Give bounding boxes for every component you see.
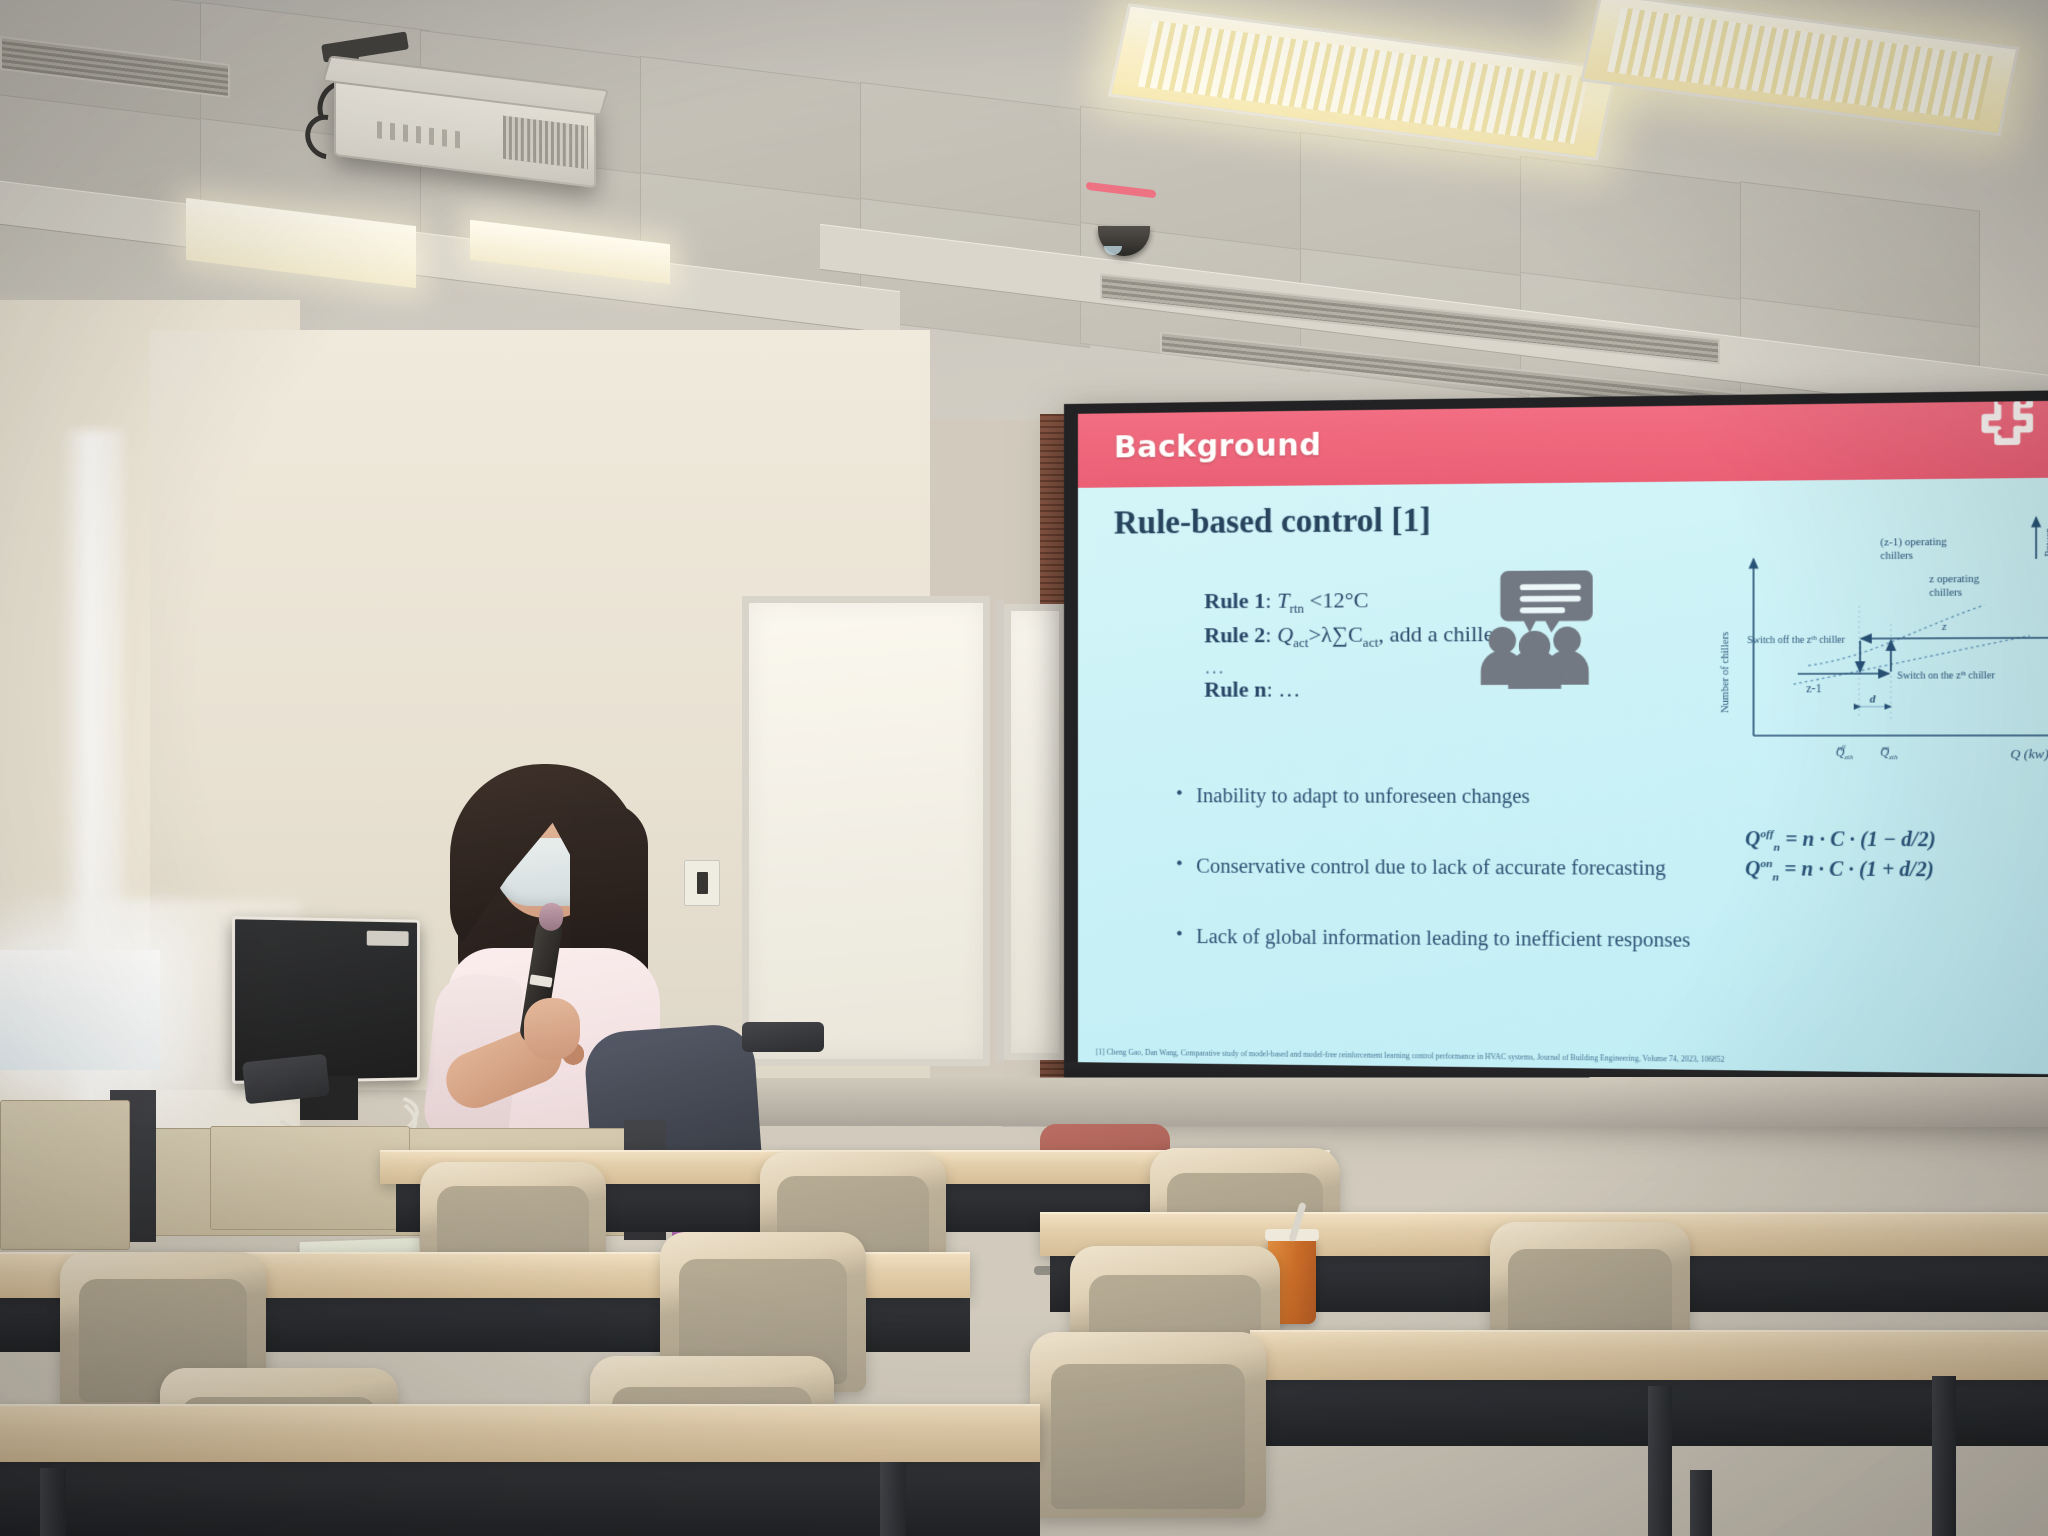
projection-screen: Background Rule-based control [1] Rule 1… bbox=[1064, 390, 2048, 1110]
bullet-item: Inability to adapt to unforeseen changes bbox=[1176, 785, 1709, 809]
lecture-hall-photo: Background Rule-based control [1] Rule 1… bbox=[0, 0, 2048, 1536]
rule-1-label: Rule 1 bbox=[1204, 588, 1265, 614]
eq-on-rhs: = n · C · (1 + d/2) bbox=[1784, 858, 1934, 881]
rule-1-tail: <12°C bbox=[1304, 587, 1368, 613]
slide-header-title: Background bbox=[1114, 428, 1322, 466]
rule-1-var: T bbox=[1277, 588, 1289, 613]
chart-annotation-z-minus-1: (z-1) operating bbox=[1880, 537, 1947, 549]
rule-2-label: Rule 2 bbox=[1204, 622, 1265, 647]
equations-block: Qoffn = n · C · (1 − d/2) Qonn = n · C ·… bbox=[1745, 826, 1936, 886]
chart-d-label: d bbox=[1870, 693, 1876, 705]
rule-1-subscript: rtn bbox=[1289, 601, 1304, 616]
slide-title: Rule-based control [1] bbox=[1114, 502, 1431, 542]
chair[interactable] bbox=[1030, 1332, 1266, 1518]
chart-y2label: Power bbox=[2044, 528, 2048, 556]
rules-ellipsis: … bbox=[1204, 652, 1501, 673]
side-cabinet bbox=[0, 1100, 130, 1250]
eq-off-lhs: Q bbox=[1745, 828, 1760, 851]
rule-2-mid: >λ∑C bbox=[1309, 621, 1363, 647]
eq-off-sup: off bbox=[1760, 828, 1773, 840]
chart-level-z-minus-1: z-1 bbox=[1806, 683, 1822, 695]
rule-1-line: Rule 1: Trtn <12°C bbox=[1204, 583, 1501, 619]
rule-2-line: Rule 2: Qact>λ∑Cact, add a chiller bbox=[1204, 618, 1501, 654]
lectern-equipment bbox=[242, 1054, 330, 1105]
chart-level-z: z bbox=[1941, 621, 1947, 633]
eq-on-sub: n bbox=[1773, 871, 1779, 883]
dark-object-on-shelf bbox=[742, 1022, 824, 1052]
svg-text:chillers: chillers bbox=[1880, 550, 1913, 562]
desk-leg bbox=[1690, 1470, 1712, 1536]
chart-tick-q-off: Qzthoff bbox=[1836, 744, 1854, 762]
chart-switch-off-label: Switch off the zth chiller bbox=[1747, 634, 1846, 646]
equation-on: Qonn = n · C · (1 + d/2) bbox=[1745, 856, 1936, 887]
desk-leg bbox=[1932, 1376, 1956, 1536]
chart-xlabel: Q (kw) bbox=[2010, 746, 2048, 762]
eq-on-sup: on bbox=[1760, 858, 1772, 870]
rule-n-label: Rule n bbox=[1204, 676, 1266, 701]
screen-shelf bbox=[700, 1077, 2048, 1127]
rule-2-subscript-2: act bbox=[1363, 635, 1378, 650]
chart-ylabel: Number of chillers bbox=[1720, 632, 1732, 713]
desk-leg bbox=[1648, 1386, 1672, 1536]
eq-off-sub: n bbox=[1774, 841, 1780, 853]
chart-switch-on-label: Switch on the zth chiller bbox=[1897, 670, 1995, 682]
svg-text:chillers: chillers bbox=[1929, 587, 1962, 599]
monitor-badge bbox=[367, 931, 409, 946]
rule-n-tail: : … bbox=[1267, 676, 1301, 701]
chart-annotation-z: z operating bbox=[1929, 574, 1980, 586]
presentation-slide: Background Rule-based control [1] Rule 1… bbox=[1078, 401, 2048, 1075]
rule-2-subscript: act bbox=[1293, 635, 1308, 650]
slide-header-bar: Background bbox=[1078, 401, 2048, 488]
desk-leg bbox=[40, 1468, 66, 1536]
rules-block: Rule 1: Trtn <12°C Rule 2: Qact>λ∑Cact, … bbox=[1204, 583, 1501, 705]
hand bbox=[524, 998, 580, 1060]
eq-on-lhs: Q bbox=[1745, 858, 1760, 881]
whiteboard-divider bbox=[996, 600, 1004, 1062]
whiteboard-panel-narrow bbox=[1004, 604, 1066, 1060]
rule-2-var: Q bbox=[1277, 622, 1293, 647]
eq-off-rhs: = n · C · (1 − d/2) bbox=[1785, 828, 1935, 851]
desk-row-near-left bbox=[0, 1404, 1040, 1462]
people-discussion-icon bbox=[1475, 568, 1593, 689]
rule-n-line: Rule n: … bbox=[1204, 672, 1501, 704]
bullet-item: Lack of global information leading to in… bbox=[1176, 925, 1709, 952]
equation-off: Qoffn = n · C · (1 − d/2) bbox=[1745, 826, 1936, 857]
desk-leg bbox=[880, 1462, 906, 1536]
bullet-list: Inability to adapt to unforeseen changes… bbox=[1136, 785, 1710, 1001]
whiteboard-panel bbox=[742, 596, 990, 1066]
chiller-hysteresis-chart: Number of chillers Power Q (kw) (z-1) op… bbox=[1712, 509, 2048, 779]
chart-tick-q-on: Qzthon bbox=[1880, 744, 1898, 762]
polyu-logo bbox=[1974, 401, 2048, 456]
bullet-item: Conservative control due to lack of accu… bbox=[1176, 855, 1709, 881]
desk-row-near-right bbox=[1250, 1330, 2048, 1380]
